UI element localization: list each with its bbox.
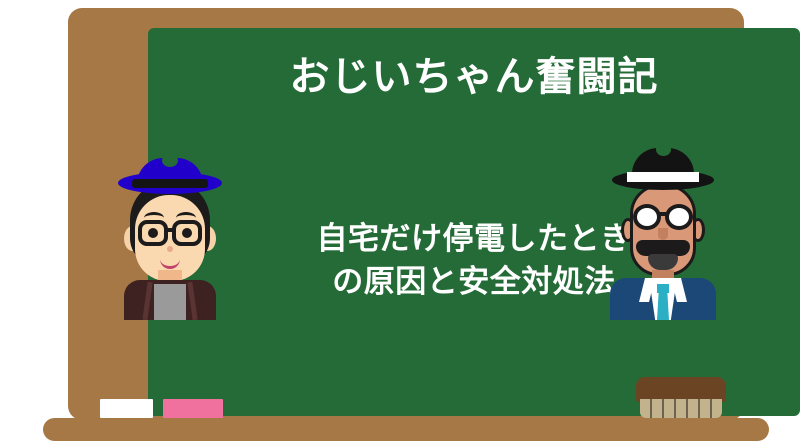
felt-segment	[676, 399, 688, 418]
shirt	[154, 284, 186, 320]
pink-chalk-icon	[163, 399, 223, 418]
nose	[658, 228, 668, 240]
glasses-left-lens	[633, 204, 661, 230]
blackboard-eraser-icon	[636, 377, 726, 418]
eraser-felt	[640, 399, 722, 418]
hat-band	[627, 172, 699, 182]
felt-segment	[688, 399, 700, 418]
felt-segment	[652, 399, 664, 418]
felt-segment	[664, 399, 676, 418]
glasses-bridge	[660, 212, 668, 216]
felt-segment	[640, 399, 652, 418]
hat-band	[132, 179, 208, 188]
glasses-bridge	[167, 228, 174, 232]
felt-segment	[700, 399, 712, 418]
avatar-older-gentleman	[608, 148, 718, 320]
avatar-young-man	[118, 158, 222, 320]
necktie	[657, 292, 669, 320]
white-chalk-icon	[100, 399, 153, 418]
glasses-left-lens	[138, 220, 168, 246]
glasses-right-lens	[172, 220, 202, 246]
page-title: おじいちゃん奮闘記	[148, 54, 800, 100]
nose	[167, 246, 173, 252]
necktie-knot	[657, 284, 669, 293]
felt-segment	[712, 399, 722, 418]
chalkboard-tray	[43, 418, 769, 441]
glasses-right-lens	[665, 204, 693, 230]
